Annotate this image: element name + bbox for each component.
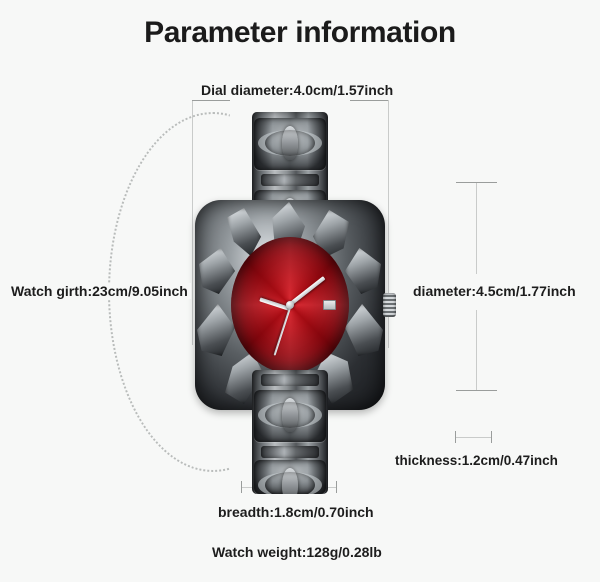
watch-weight-label: Watch weight:128g/0.28lb (209, 544, 385, 560)
date-window (323, 300, 336, 310)
dial-diameter-tick-left (192, 100, 230, 101)
band-spacer-lower (261, 374, 319, 386)
infographic-canvas: Parameter information (0, 0, 600, 582)
watch-girth-label: Watch girth:23cm/9.05inch (8, 283, 191, 299)
band-link-upper-1 (254, 118, 326, 170)
band-link-lower-2 (254, 460, 326, 494)
watch-band-bottom (252, 370, 328, 494)
watch-illustration (190, 108, 390, 498)
band-spacer-lower-2 (261, 446, 319, 458)
dial-diameter-tick-right (350, 100, 388, 101)
page-title: Parameter information (0, 16, 600, 50)
watch-crown (383, 293, 396, 317)
diameter-label: diameter:4.5cm/1.77inch (410, 283, 579, 299)
dial-diameter-label: Dial diameter:4.0cm/1.57inch (198, 82, 396, 98)
hand-center-pin (286, 301, 294, 309)
watch-dial (231, 237, 349, 373)
second-hand (274, 306, 292, 356)
thickness-bracket-line (455, 437, 491, 438)
diameter-bracket-line-upper (476, 182, 477, 274)
thickness-cap-right (491, 431, 492, 443)
thickness-label: thickness:1.2cm/0.47inch (392, 453, 561, 468)
diameter-bracket-line-lower (476, 310, 477, 390)
diameter-cap-top (456, 182, 497, 183)
band-link-lower-1 (254, 390, 326, 442)
band-spacer-upper (261, 174, 319, 186)
breadth-label: breadth:1.8cm/0.70inch (215, 504, 377, 520)
diameter-cap-bottom (456, 390, 497, 391)
thickness-cap-left (455, 431, 456, 443)
